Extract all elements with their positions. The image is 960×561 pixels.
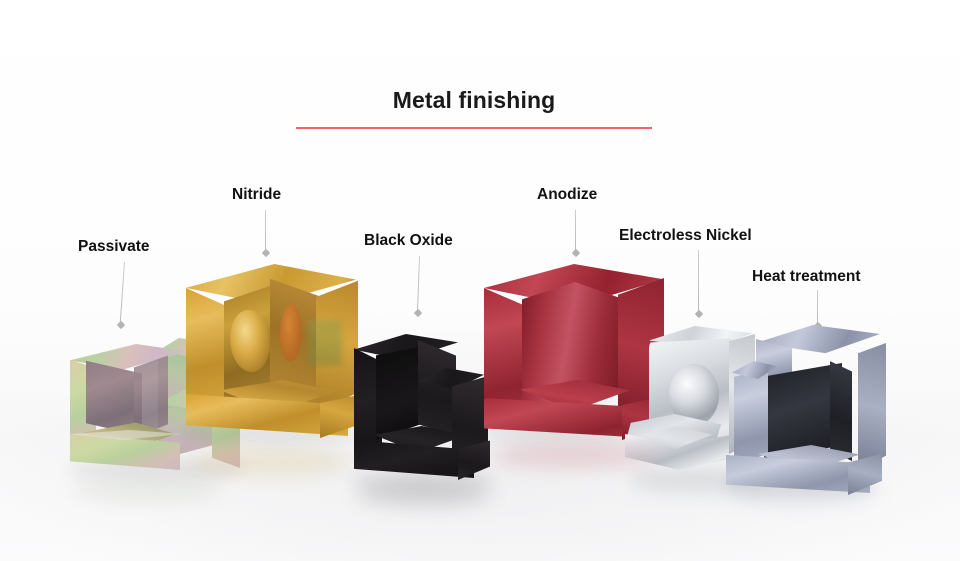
reflection-anodize xyxy=(492,442,656,468)
metal-finishing-poster: Metal finishing Passivate Nitride Black … xyxy=(0,0,960,561)
callout-label-nitride: Nitride xyxy=(232,186,281,204)
page-title-text: Metal finishing xyxy=(296,88,652,113)
callout-label-anodize: Anodize xyxy=(537,186,597,204)
callout-label-black-oxide: Black Oxide xyxy=(364,232,453,250)
page-title: Metal finishing xyxy=(296,88,652,113)
reflection-black-oxide xyxy=(356,482,492,506)
reflection-passivate xyxy=(72,476,222,502)
callout-label-passivate: Passivate xyxy=(78,238,150,256)
nitride-part xyxy=(180,262,365,447)
black-oxide-part xyxy=(348,330,498,490)
title-underline-rule xyxy=(296,127,652,129)
reflection-heat-treatment xyxy=(726,480,876,504)
heat-treatment-part xyxy=(718,325,888,495)
callout-label-heat-treatment: Heat treatment xyxy=(752,268,861,286)
callout-label-electroless-nickel: Electroless Nickel xyxy=(619,227,752,245)
reflection-nitride xyxy=(190,448,350,476)
